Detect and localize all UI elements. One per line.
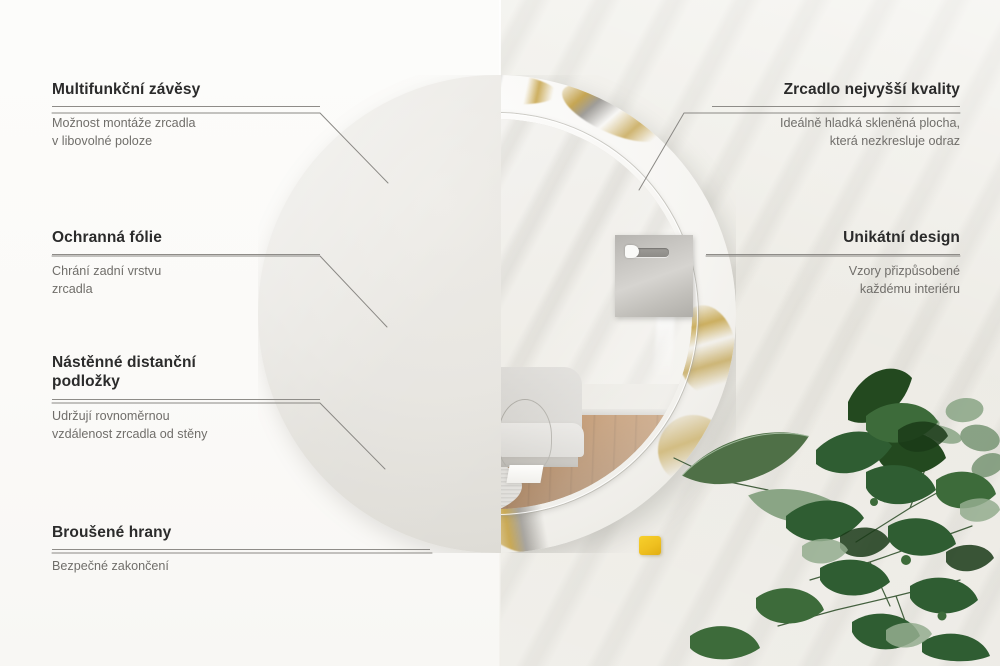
callout-title: Ochranná fólie [52,228,320,247]
callout-description: Možnost montáže zrcadla v libovolné polo… [52,115,320,151]
callout-description: Ideálně hladká skleněná plocha, která ne… [712,115,960,151]
callout-title: Zrcadlo nejvyšší kvality [712,80,960,99]
callout-rule [52,106,320,107]
reflected-lamp-shade [506,465,543,483]
callout-nastenne-distancni-podlozky: Nástěnné distanční podložky Udržují rovn… [52,353,320,444]
callout-rule [52,254,320,255]
callout-zrcadlo-nejvyssi-kvality: Zrcadlo nejvyšší kvality Ideálně hladká … [712,80,960,151]
callout-title: Multifunkční závěsy [52,80,320,99]
callout-ochranna-folie: Ochranná fólie Chrání zadní vrstvu zrcad… [52,228,320,299]
marble-vein-icon [500,75,559,111]
callout-description: Chrání zadní vrstvu zrcadla [52,263,320,299]
callout-title: Nástěnné distanční podložky [52,353,320,392]
callout-rule [706,254,960,255]
callout-rule [52,399,320,400]
callout-title: Broušené hrany [52,523,430,542]
callout-description: Bezpečné zakončení [52,558,430,576]
callout-rule [52,549,430,550]
callout-description: Vzory přizpůsobené každému interiéru [706,263,960,299]
callout-unikatni-design: Unikátní design Vzory přizpůsobené každé… [706,228,960,299]
hanger-keyhole-icon [625,245,639,258]
callout-brousene-hrany: Broušené hrany Bezpečné zakončení [52,523,430,576]
hanger-bracket [615,235,693,317]
callout-multifunkcni-zavesy: Multifunkční závěsy Možnost montáže zrca… [52,80,320,151]
callout-title: Unikátní design [706,228,960,247]
product-infographic: Multifunkční závěsy Možnost montáže zrca… [0,0,1000,666]
callout-rule [712,106,960,107]
reflected-floor-lamp [500,399,552,473]
yellow-spacer-pad [639,536,661,555]
callout-description: Udržují rovnoměrnou vzdálenost zrcadla o… [52,408,320,444]
round-mirror [258,75,736,553]
